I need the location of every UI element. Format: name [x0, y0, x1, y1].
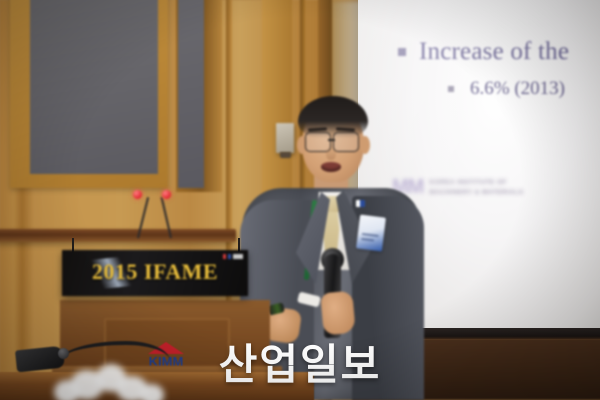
- badge-text-line: [362, 233, 379, 237]
- square-bullet-icon: [398, 48, 406, 56]
- conference-photo: Increase of the 6.6% (2013) MM KOREA INS…: [0, 0, 600, 400]
- flower-arrangement: [52, 360, 172, 400]
- slide-line-1-text: Increase of the: [419, 38, 569, 66]
- acoustic-panel-secondary: [178, 0, 204, 188]
- logo-bar-blue: [228, 254, 231, 259]
- acoustic-panel: [30, 0, 158, 174]
- banner-title: 2015 IFAME: [62, 259, 248, 285]
- kimm-logo-line-1: KOREA INSTITUTE OF: [429, 179, 507, 186]
- chair-rail-molding: [0, 229, 236, 242]
- badge-text-line: [361, 238, 374, 242]
- kimm-logo-wordmark: KOREA INSTITUTE OF MACHINERY & MATERIALS: [429, 178, 523, 197]
- banner-corner-logo: [223, 254, 243, 259]
- slide-bullet-line-2: 6.6% (2013): [448, 78, 565, 100]
- flower-petal: [140, 384, 164, 400]
- square-bullet-icon: [448, 86, 454, 92]
- slide-bullet-line-1: Increase of the: [398, 38, 569, 66]
- microphone-windscreen: [162, 190, 171, 199]
- eyeglasses-bridge: [328, 139, 335, 141]
- lapel-pin: [356, 200, 365, 207]
- flower-petal: [54, 380, 80, 400]
- slide-line-2-text: 6.6% (2013): [470, 78, 565, 100]
- hand-holding-microphone: [320, 291, 356, 336]
- ear-right: [360, 136, 370, 154]
- mouth: [321, 162, 341, 172]
- eyeglasses-lens-right: [333, 132, 359, 152]
- kimm-logo-line-2: MACHINERY & MATERIALS: [429, 189, 523, 196]
- microphone-windscreen: [133, 190, 142, 199]
- logo-bar-gray: [233, 254, 243, 259]
- desk-microphone-knob: [58, 348, 69, 359]
- nose: [326, 146, 336, 160]
- name-badge: [356, 215, 386, 252]
- podium-banner: 2015 IFAME: [62, 250, 248, 296]
- logo-bar-red: [223, 254, 226, 259]
